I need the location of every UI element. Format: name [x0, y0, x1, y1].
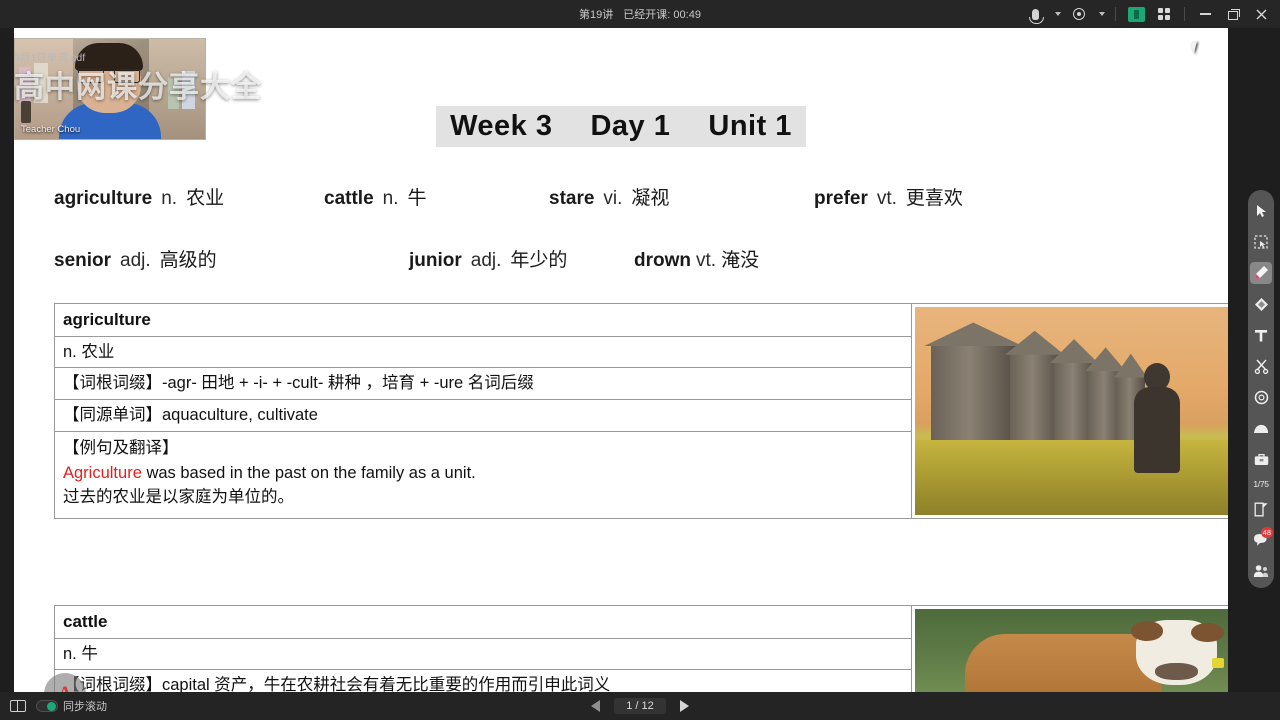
minimize-icon: [1200, 13, 1211, 15]
restore-icon: [1228, 9, 1239, 19]
webcam-corner-badge: [21, 101, 31, 123]
vocab-item-agriculture: agriculture n. 农业: [54, 183, 324, 210]
vocab-def: 淹没: [721, 245, 759, 272]
vocab-word: drown: [634, 250, 691, 272]
vocab-word: cattle: [324, 188, 374, 210]
webcam-name-label: Teacher Chou: [21, 124, 80, 135]
entry-example-rest: was based in the past on the family as a…: [142, 464, 476, 482]
annotation-toolbar: 1/75 48: [1248, 190, 1274, 588]
farmer-silhouette: [1128, 363, 1186, 473]
vocab-word: junior: [409, 250, 462, 272]
vocab-def: 牛: [408, 183, 427, 210]
diamond-shape-icon: [1254, 297, 1269, 312]
app-titlebar: 第19讲 已经开课: 00:49: [0, 0, 1280, 28]
page-indicator: 1 / 12: [614, 698, 666, 714]
vocab-item-stare: stare vi. 凝视: [549, 183, 814, 210]
circle-tool[interactable]: [1250, 386, 1272, 408]
prev-page-icon[interactable]: [591, 700, 600, 712]
vocab-def: 农业: [186, 183, 224, 210]
vocab-item-senior: senior adj. 高级的: [54, 245, 409, 272]
screen-share-icon: [1128, 7, 1145, 22]
scissors-tool[interactable]: [1250, 355, 1272, 377]
vocab-pos: vi.: [603, 188, 622, 210]
vocab-item-junior: junior adj. 年少的: [409, 245, 634, 272]
entry-example-sentence: Agriculture was based in the past on the…: [63, 461, 903, 486]
chat-button[interactable]: 48: [1250, 529, 1272, 551]
close-window-button[interactable]: [1248, 3, 1274, 25]
participants-button[interactable]: [1250, 560, 1272, 582]
screen-share-button[interactable]: [1123, 3, 1149, 25]
entry-card-agriculture: agriculture n. 农业 【词根词缀】-agr- 田地 + -i- +…: [54, 303, 1228, 519]
layout-grid-button[interactable]: [1151, 3, 1177, 25]
vocab-pos: n.: [161, 188, 177, 210]
brown-cow-in-pasture-photo: [915, 609, 1228, 692]
next-page-icon[interactable]: [680, 700, 689, 712]
toolbox-icon: [1254, 453, 1269, 466]
note-edit-icon: [1254, 502, 1269, 517]
microphone-dropdown[interactable]: [1050, 3, 1064, 25]
vocab-word: stare: [549, 188, 594, 210]
bottom-toolbar: 同步滚动 1 / 12: [0, 692, 1280, 720]
entry-cognates: 【同源单词】aquaculture, cultivate: [55, 400, 911, 432]
entry-card-cattle: cattle n. 牛 【词根词缀】capital 资产，牛在农耕社会有着无比重…: [54, 605, 1228, 692]
eraser-icon: [1253, 422, 1269, 435]
entry-headword: cattle: [55, 606, 911, 639]
entry-headword: agriculture: [55, 304, 911, 337]
vocab-item-prefer: prefer vt. 更喜欢: [814, 183, 963, 210]
vocab-pos: adj.: [120, 250, 151, 272]
vocab-row-2: senior adj. 高级的 junior adj. 年少的 drown vt…: [54, 245, 1188, 272]
page-navigation: 1 / 12: [0, 698, 1280, 714]
note-edit-button[interactable]: [1250, 498, 1272, 520]
cursor-select-tool[interactable]: [1250, 200, 1272, 222]
camera-dropdown[interactable]: [1094, 3, 1108, 25]
vocab-pos: adj.: [471, 250, 502, 272]
camera-icon: [1073, 8, 1085, 20]
circle-icon: [1254, 390, 1269, 405]
microphone-icon: [1032, 9, 1039, 20]
elapsed-time-label: 已经开课: 00:49: [623, 6, 701, 22]
marquee-select-icon: [1254, 235, 1269, 250]
entry-image-agriculture: [911, 304, 1228, 518]
entry-pos-def: n. 农业: [55, 337, 911, 369]
restore-button[interactable]: [1220, 3, 1246, 25]
text-tool[interactable]: [1250, 324, 1272, 346]
entry-roots: 【词根词缀】-agr- 田地 + -i- + -cult- 耕种 ，培育 + -…: [55, 368, 911, 400]
entry-example-block: 【例句及翻译】 Agriculture was based in the pas…: [55, 432, 911, 518]
silo-1: [931, 344, 1016, 440]
vocab-pos: vt.: [877, 188, 897, 210]
marquee-select-tool[interactable]: [1250, 231, 1272, 253]
text-t-icon: [1254, 328, 1268, 343]
entry-pos-def: n. 牛: [55, 639, 911, 671]
close-icon: [1255, 8, 1268, 21]
vocab-pos: n.: [383, 188, 399, 210]
entry-example-translation: 过去的农业是以家庭为单位的。: [63, 485, 903, 510]
vocab-pos: vt.: [696, 250, 716, 272]
titlebar-controls: [1022, 0, 1274, 28]
cursor-arrow-icon: [1255, 204, 1268, 218]
entry-image-cattle: [911, 606, 1228, 692]
presentation-stage: 9月1日单词.pdf Week 3 Day 1 Unit 1 agricultu…: [0, 28, 1280, 692]
cow-muzzle: [1155, 663, 1198, 680]
slide-title: Week 3 Day 1 Unit 1: [436, 106, 806, 147]
microphone-button[interactable]: [1022, 3, 1048, 25]
toolbar-divider: [1115, 7, 1116, 21]
entry-text-column: cattle n. 牛 【词根词缀】capital 资产，牛在农耕社会有着无比重…: [55, 606, 911, 692]
scissors-icon: [1254, 359, 1269, 374]
vocab-def: 年少的: [510, 245, 567, 272]
vocab-row-1: agriculture n. 农业 cattle n. 牛 stare vi. …: [54, 183, 1188, 210]
toolbar-divider: [1184, 7, 1185, 21]
slide-title-week: Week 3: [450, 110, 552, 143]
shape-tool[interactable]: [1250, 293, 1272, 315]
vocab-def: 更喜欢: [906, 183, 963, 210]
camera-button[interactable]: [1066, 3, 1092, 25]
chevron-down-icon: [1099, 12, 1105, 16]
vocab-def: 高级的: [160, 245, 217, 272]
lesson-label: 第19讲: [579, 6, 613, 22]
grain-silos-at-sunset-photo: [915, 307, 1228, 515]
eraser-tool[interactable]: [1250, 417, 1272, 439]
vocab-def: 凝视: [631, 183, 669, 210]
cow-body: [965, 634, 1160, 692]
chat-unread-badge: 48: [1261, 527, 1273, 538]
teacher-glasses: [77, 69, 141, 81]
silo-2: [1010, 353, 1060, 440]
slide-title-unit: Unit 1: [708, 110, 792, 143]
vocab-item-cattle: cattle n. 牛: [324, 183, 549, 210]
participants-icon: [1253, 564, 1269, 578]
vocab-word: prefer: [814, 188, 868, 210]
entry-text-column: agriculture n. 农业 【词根词缀】-agr- 田地 + -i- +…: [55, 304, 911, 518]
entry-roots: 【词根词缀】capital 资产，牛在农耕社会有着无比重要的作用而引申此词义: [55, 670, 911, 692]
cow-ear-tag: [1212, 658, 1224, 668]
cow-head: [1136, 620, 1218, 685]
vocab-item-drown: drown vt. 淹没: [634, 245, 759, 272]
entry-example-highlight: Agriculture: [63, 464, 142, 482]
toolbox-button[interactable]: [1250, 448, 1272, 470]
entry-example-label: 【例句及翻译】: [63, 436, 903, 461]
highlighter-pen-icon: [1253, 265, 1269, 281]
highlighter-tool[interactable]: [1250, 262, 1272, 284]
slide-page-counter: 1/75: [1253, 479, 1268, 489]
slide-title-day: Day 1: [590, 110, 670, 143]
file-name-label: 9月1日单词.pdf: [14, 50, 85, 65]
minimize-button[interactable]: [1192, 3, 1218, 25]
chevron-down-icon: [1055, 12, 1061, 16]
grid-layout-icon: [1158, 8, 1171, 21]
vocab-word: senior: [54, 250, 111, 272]
vocab-word: agriculture: [54, 188, 152, 210]
